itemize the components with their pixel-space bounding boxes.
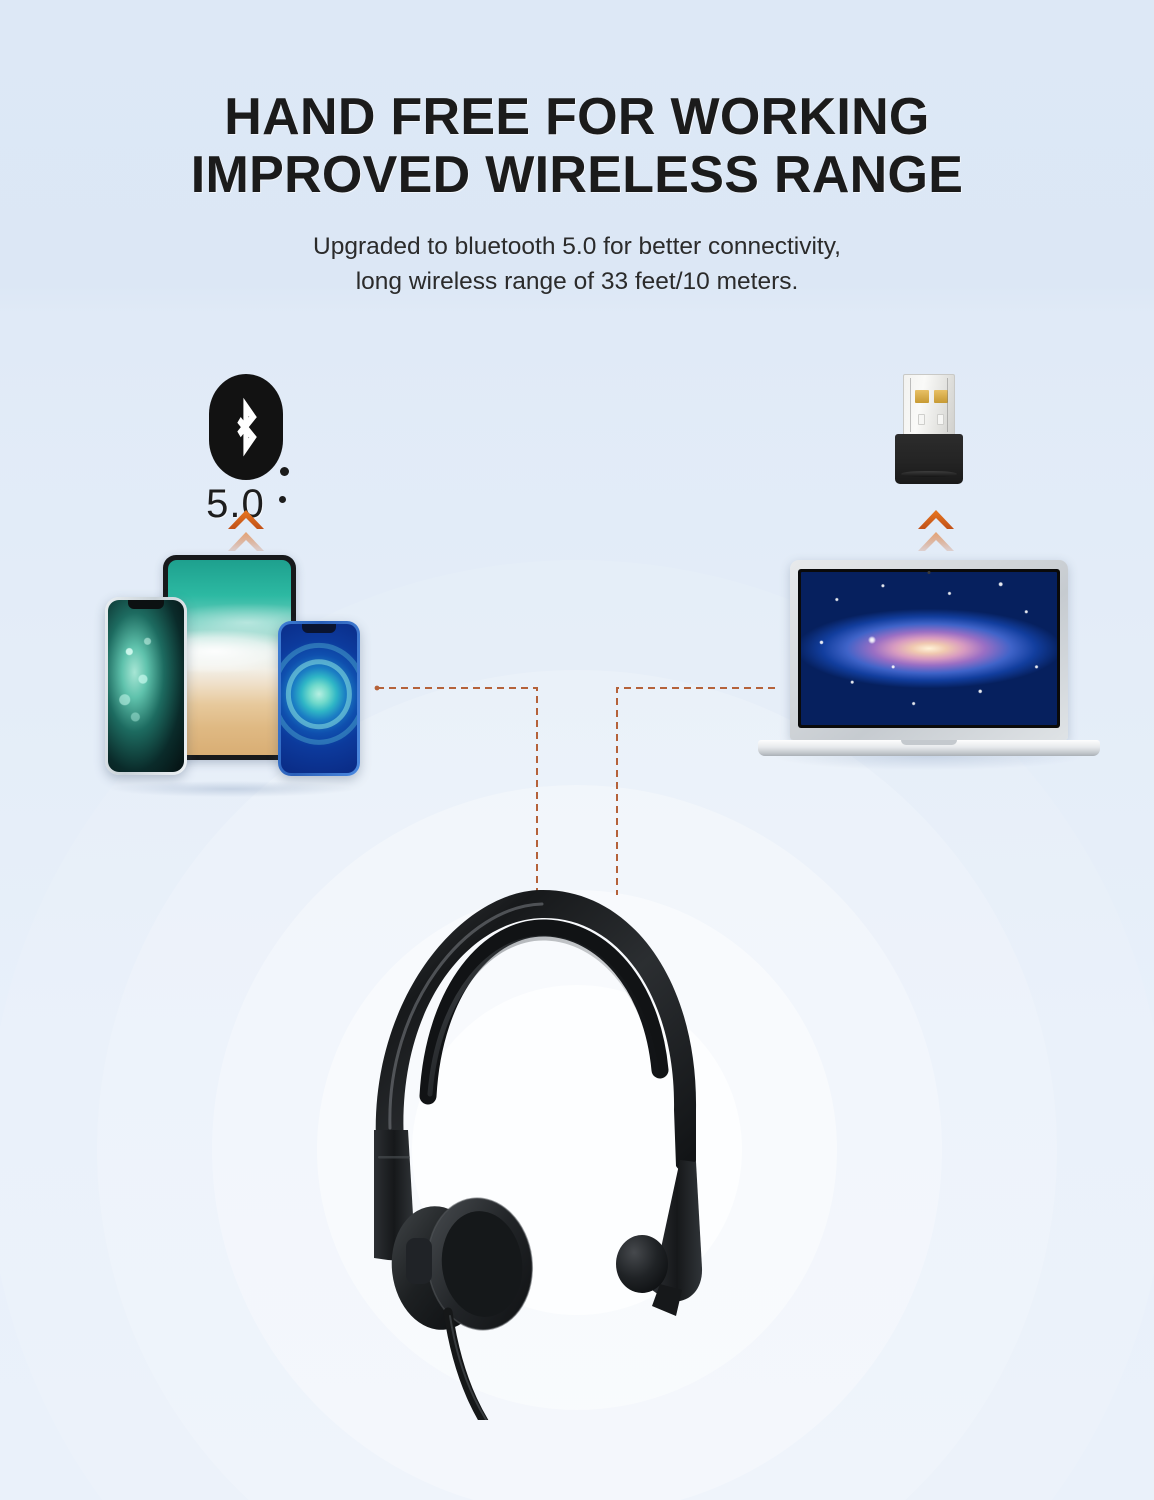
product-feature-banner: HAND FREE FOR WORKING IMPROVED WIRELESS … (0, 0, 1154, 1500)
ear-cup-hinge (406, 1238, 432, 1284)
bluetooth-badge-dot (280, 467, 289, 476)
usb-tooth-1 (918, 414, 925, 425)
smartphone-silver-notch (128, 600, 164, 609)
usb-tooth-2 (937, 414, 944, 425)
dashed-path-endpoint-left (375, 686, 380, 691)
version-trailing-dot (279, 496, 286, 503)
bluetooth-icon (209, 374, 283, 480)
laptop-camera-icon (928, 571, 931, 574)
left-arm-seam (378, 1156, 410, 1159)
smartphone-blue-wallpaper (281, 624, 357, 773)
laptop-wallpaper (801, 572, 1057, 725)
smartphone-silver (105, 597, 187, 775)
smartphone-blue-notch (302, 624, 336, 633)
smartphone-blue (278, 621, 360, 776)
smartphone-silver-wallpaper (108, 600, 184, 772)
usb-dongle-icon (895, 374, 963, 486)
bluetooth-headset (330, 860, 730, 1420)
usb-contact-2 (934, 390, 948, 403)
devices-shadow (111, 781, 351, 797)
bluetooth-badge: 5.0 (196, 374, 296, 524)
double-chevron-up-icon-right (914, 508, 958, 564)
laptop-shadow (776, 756, 1082, 770)
laptop-lid (790, 560, 1068, 740)
usb-connector (903, 374, 955, 436)
mobile-devices-group (105, 555, 360, 785)
usb-contact-1 (915, 390, 929, 403)
laptop-bezel (798, 569, 1060, 728)
laptop (758, 560, 1100, 770)
usb-housing (895, 434, 963, 484)
laptop-base (758, 740, 1100, 756)
